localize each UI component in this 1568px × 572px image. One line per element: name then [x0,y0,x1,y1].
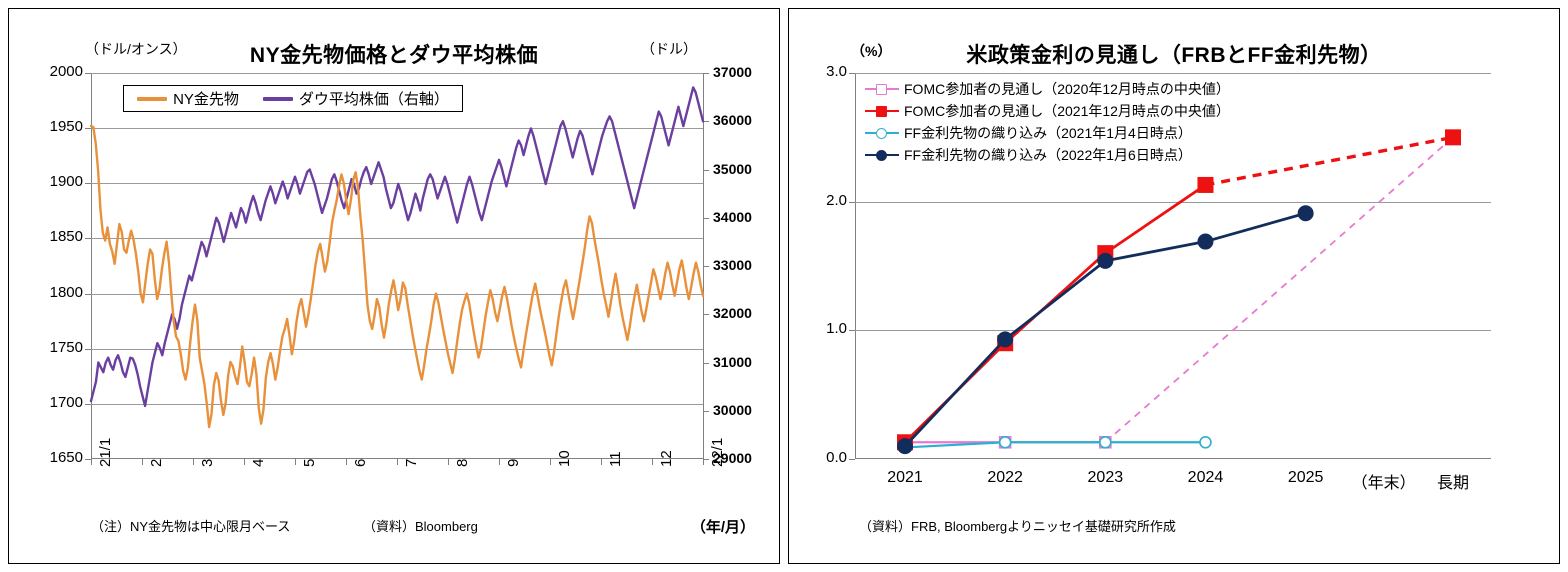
y-tick-label: 1800 [23,284,83,301]
y-tick-label: 1850 [23,228,83,245]
legend-marker [876,128,887,139]
x-tick-label: 9 [505,459,522,467]
legend-item-ff-2021: FF金利先物の織り込み（2021年1月4日時点） [865,123,1230,143]
x-tick [652,459,653,465]
y2-tick-label: 33000 [713,257,752,273]
x-tick [91,459,92,465]
x-tick-label: 21/1 [97,438,114,467]
left-x-axis-caption: （年/月） [691,516,755,537]
legend-item-fomc-2020: FOMC参加者の見通し（2020年12月時点の中央値） [865,79,1230,99]
x-tick-label: 2023 [1055,469,1155,487]
y2-tick-label: 32000 [713,305,752,321]
y-tick-label: 1750 [23,339,83,356]
y-tick-label: 2.0 [803,192,847,209]
y-tick [849,459,855,460]
right-x-axis-caption: （年末） [1334,469,1434,493]
legend-item-ff-2022: FF金利先物の織り込み（2022年1月6日時点） [865,145,1230,165]
right-chart-inner: 米政策金利の見通し（FRBとFF金利先物） （%） 0.01.02.03.0 2… [803,23,1545,549]
x-tick-label: 10 [556,450,573,467]
x-tick-label: 3 [199,459,216,467]
legend-label-ff-2021: FF金利先物の織り込み（2021年1月4日時点） [904,123,1192,143]
legend-label-gold: NY金先物 [173,88,239,109]
left-series-svg [91,73,703,459]
y2-tick-label: 34000 [713,209,752,225]
left-plot-area [91,73,703,459]
x-tick [193,459,194,465]
x-tick-label: 2 [148,459,165,467]
legend-label-fomc-2021: FOMC参加者の見通し（2021年12月時点の中央値） [904,101,1230,121]
y-tick-label: 2000 [23,63,83,80]
x-tick-label: 4 [250,459,267,467]
x-tick [142,459,143,465]
left-axis-unit-label: （ドル/オンス） [85,39,187,59]
x-tick-label: 11 [607,451,624,467]
legend-swatch-gold [137,97,167,101]
y-tick-label: 1950 [23,118,83,135]
legend-label-dow: ダウ平均株価（右軸） [299,88,449,109]
left-chart-source: （資料）Bloomberg [363,516,478,535]
x-tick [601,459,602,465]
x-tick [550,459,551,465]
legend-label-ff-2022: FF金利先物の織り込み（2022年1月6日時点） [904,145,1192,165]
x-tick-label: 22/1 [709,438,726,467]
right-axis-unit-label: （ドル） [641,39,697,59]
y-tick-label: 0.0 [803,449,847,466]
legend-marker-circle-open-icon [865,126,899,140]
y-tick-label: 1650 [23,449,83,466]
x-tick-label: 2024 [1155,469,1255,487]
x-tick-label: 7 [403,459,420,467]
left-chart-inner: NY金先物価格とダウ平均株価 （ドル/オンス） （ドル） 16501700175… [23,23,765,549]
legend-marker [876,150,887,161]
right-chart-legend: FOMC参加者の見通し（2020年12月時点の中央値） FOMC参加者の見通し（… [865,79,1230,165]
x-tick [703,459,704,465]
legend-marker-square-filled-icon [865,104,899,118]
y-tick-label: 1700 [23,394,83,411]
left-chart-legend: NY金先物 ダウ平均株価（右軸） [123,85,463,112]
y2-tick-label: 30000 [713,402,752,418]
x-tick [499,459,500,465]
legend-item-dow: ダウ平均株価（右軸） [263,88,449,109]
legend-item-fomc-2021: FOMC参加者の見通し（2021年12月時点の中央値） [865,101,1230,121]
x-tick [397,459,398,465]
right-axis-unit-label-pct: （%） [851,41,891,61]
y2-tick-label: 37000 [713,64,752,80]
legend-marker [876,106,887,117]
right-chart-source: （資料）FRB, Bloombergよりニッセイ基礎研究所作成 [859,516,1176,535]
y2-tick-label: 35000 [713,161,752,177]
legend-marker-circle-filled-icon [865,148,899,162]
right-chart-panel: 米政策金利の見通し（FRBとFF金利先物） （%） 0.01.02.03.0 2… [788,8,1560,564]
page-root: NY金先物価格とダウ平均株価 （ドル/オンス） （ドル） 16501700175… [0,0,1568,572]
legend-swatch-dow [263,97,293,101]
legend-item-gold: NY金先物 [137,88,239,109]
x-tick [448,459,449,465]
legend-marker [876,84,887,95]
x-tick [295,459,296,465]
right-chart-title: 米政策金利の見通し（FRBとFF金利先物） [803,39,1545,69]
x-tick-label: 5 [301,459,318,467]
y-tick-label: 1.0 [803,320,847,337]
left-chart-note: （注）NY金先物は中心限月ベース [91,516,290,535]
x-tick-label: 8 [454,459,471,467]
x-tick-label: 12 [658,450,675,467]
x-tick-label: 6 [352,459,369,467]
y-tick-label: 1900 [23,173,83,190]
right-axis-line [703,73,704,459]
y-tick-label: 3.0 [803,63,847,80]
left-chart-panel: NY金先物価格とダウ平均株価 （ドル/オンス） （ドル） 16501700175… [8,8,780,564]
x-tick-label: 2022 [955,469,1055,487]
y2-tick-label: 31000 [713,354,752,370]
x-tick [244,459,245,465]
y2-tick-label: 36000 [713,112,752,128]
legend-label-fomc-2020: FOMC参加者の見通し（2020年12月時点の中央値） [904,79,1230,99]
x-tick-label: 2021 [855,469,955,487]
x-tick [346,459,347,465]
legend-marker-square-open-icon [865,82,899,96]
